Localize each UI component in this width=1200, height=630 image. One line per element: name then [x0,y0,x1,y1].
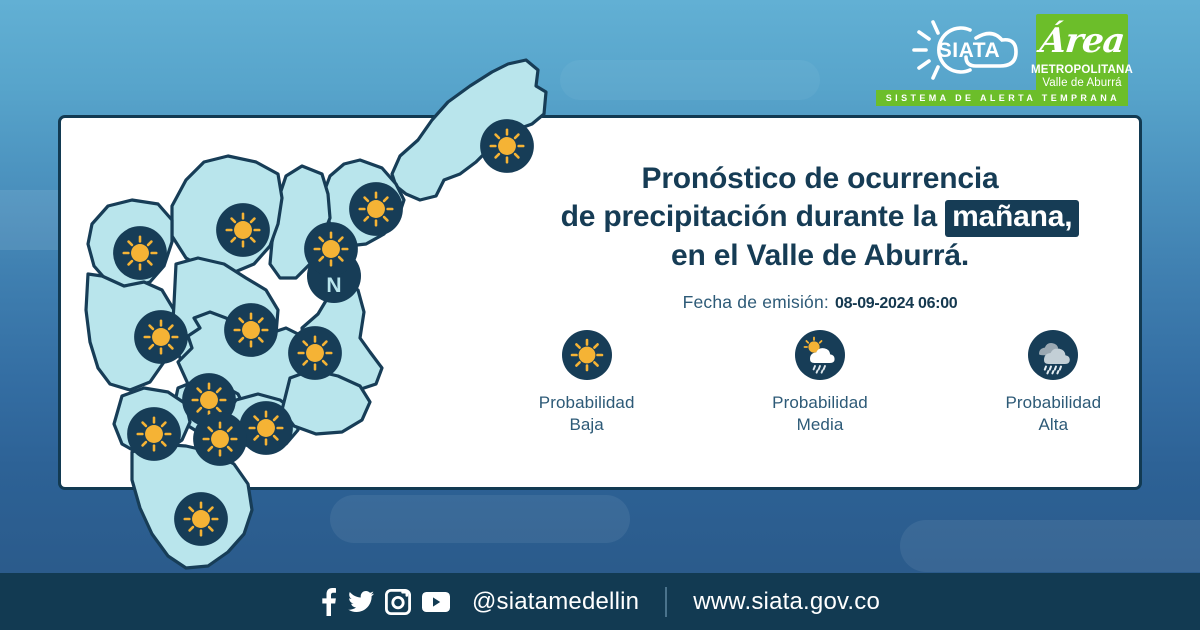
logo-group: SIATA Área METROPOLITANA Valle de Aburrá [906,14,1128,102]
legend-item-baja: Probabilidad Baja [492,330,682,436]
website-url[interactable]: www.siata.gov.co [693,588,880,616]
instagram-icon[interactable] [385,589,411,615]
sun-icon [562,330,612,380]
footer-bar: @siatamedellin www.siata.gov.co [0,573,1200,630]
youtube-icon[interactable] [422,592,450,612]
area-metropolitana-logo: Área METROPOLITANA Valle de Aburrá [1036,14,1128,102]
decorative-cloud-3 [900,520,1200,572]
am-metropolitana-text: METROPOLITANA [1031,64,1133,76]
title-line-1: Pronóstico de ocurrencia [470,160,1170,198]
legend-item-media: Probabilidad Media [725,330,915,436]
legend-label-baja: Probabilidad Baja [539,392,635,436]
legend-label-media: Probabilidad Media [772,392,868,436]
title-line-2-text: de precipitación durante la [561,200,937,233]
sun-cloud-rain-icon [795,330,845,380]
title-line-2: de precipitación durante la mañana, [470,198,1170,236]
legend-item-alta: Probabilidad Alta [958,330,1148,436]
siata-wordmark: SIATA [938,39,1000,62]
decorative-cloud-4 [560,60,820,100]
legend-label-alta: Probabilidad Alta [1005,392,1101,436]
twitter-icon[interactable] [348,591,374,613]
title-line-3: en el Valle de Aburrá. [470,237,1170,275]
title-highlight-manana: mañana, [945,200,1079,236]
decorative-cloud-2 [330,495,630,543]
social-icon-group [320,588,450,616]
am-valle-text: Valle de Aburrá [1042,77,1121,89]
am-script-text: Área [1038,24,1126,58]
legend-label-alta-line1: Probabilidad [1005,392,1101,414]
emission-date-label: Fecha de emisión: [683,292,829,312]
legend-label-baja-line1: Probabilidad [539,392,635,414]
cloud-rain-icon [1028,330,1078,380]
social-handle[interactable]: @siatamedellin [472,588,639,616]
infographic-canvas: SIATA Área METROPOLITANA Valle de Aburrá… [0,0,1200,630]
facebook-icon[interactable] [320,588,337,616]
legend-label-media-line1: Probabilidad [772,392,868,414]
page-title: Pronóstico de ocurrencia de precipitació… [470,160,1170,275]
legend-label-media-line2: Media [772,414,868,436]
legend-label-alta-line2: Alta [1005,414,1101,436]
legend-label-baja-line2: Baja [539,414,635,436]
siata-sun-cloud-icon: SIATA [906,14,1026,86]
probability-legend: Probabilidad Baja [470,330,1170,436]
emission-date-value: 08-09-2024 06:00 [835,295,957,312]
tagline-banner: SISTEMA DE ALERTA TEMPRANA [876,90,1128,106]
siata-logo: SIATA [906,14,1026,86]
footer-divider [665,587,667,617]
emission-date: Fecha de emisión: 08-09-2024 06:00 [470,292,1170,313]
headline-block: Pronóstico de ocurrencia de precipitació… [470,160,1170,313]
